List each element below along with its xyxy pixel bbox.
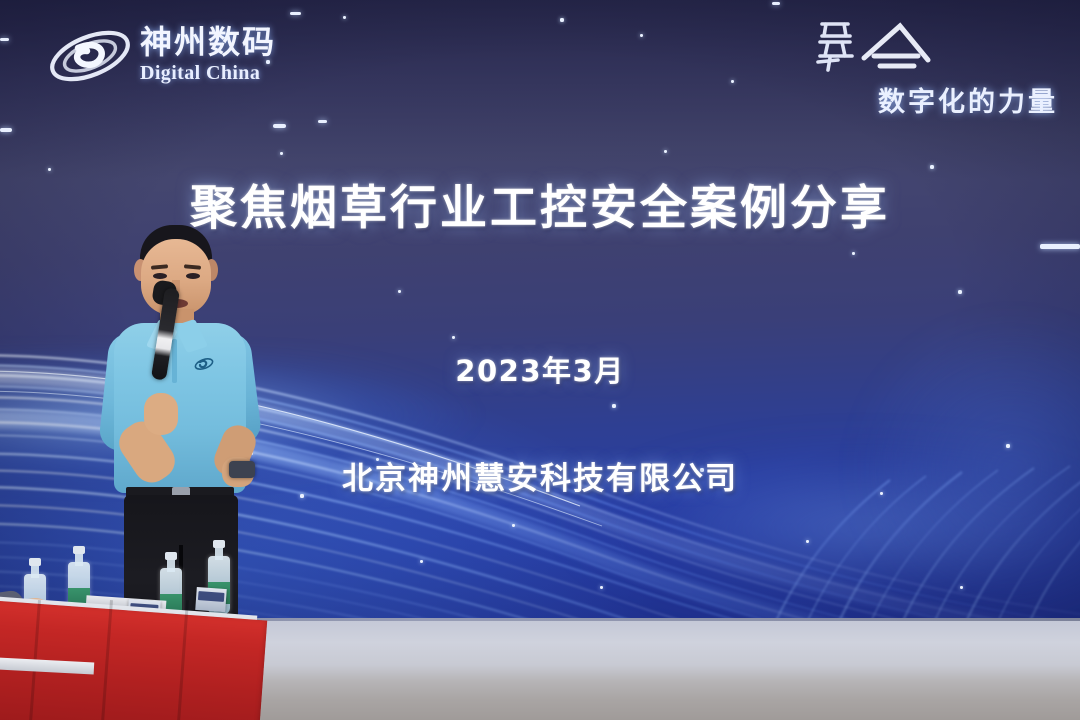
digital-china-logo: 神州数码 Digital China [44, 20, 314, 98]
conference-photo: 神州数码 Digital China 数字化的力量 聚焦烟草行业 [0, 0, 1080, 720]
shirt-chest-logo-icon [194, 355, 214, 373]
digital-china-wordmark: 神州数码 Digital China [140, 26, 320, 83]
presentation-clicker [229, 461, 255, 478]
presenter-eye-left [153, 273, 167, 279]
presenter [96, 225, 271, 625]
digital-china-english-name: Digital China [140, 63, 320, 83]
presenter-hand-left [144, 393, 178, 435]
event-logo: 数字化的力量 [808, 16, 1058, 116]
digital-china-swirl-icon [44, 22, 136, 90]
presenter-eye-right [186, 273, 200, 279]
digital-china-chinese-name: 神州数码 [140, 26, 320, 58]
name-card [195, 587, 227, 612]
presenter-shirt-placket [172, 339, 177, 383]
event-logo-tagline: 数字化的力量 [878, 89, 1058, 116]
juhe-calligraphy-icon [808, 16, 938, 78]
